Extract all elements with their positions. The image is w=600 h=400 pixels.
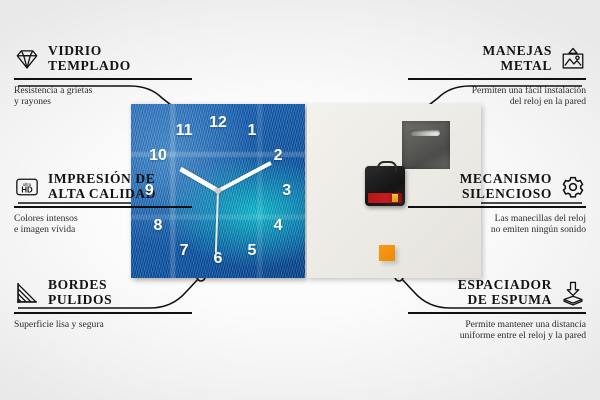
feature-high-quality-print: ultra HD IMPRESIÓN DE ALTA CALIDAD Color…: [14, 172, 192, 236]
foam-spacer: [379, 245, 395, 261]
feature-desc-line2: e imagen vívida: [14, 224, 192, 236]
feature-silent-mechanism: MECANISMO SILENCIOSO Las manecillas del …: [408, 172, 586, 236]
feature-title-line1: VIDRIO: [48, 44, 131, 59]
clock-numeral: 2: [274, 148, 283, 164]
feature-head: ultra HD IMPRESIÓN DE ALTA CALIDAD: [14, 172, 192, 201]
feature-title-line1: ESPACIADOR: [458, 278, 552, 293]
feature-head: ESPACIADOR DE ESPUMA: [408, 278, 586, 307]
clock-numeral: 8: [154, 218, 163, 234]
clock-numeral: 11: [176, 123, 193, 139]
clock-mechanism: [365, 166, 405, 206]
diamond-icon: [14, 46, 40, 72]
feature-title-line2: METAL: [483, 59, 552, 74]
feature-divider: [14, 312, 192, 314]
clock-numeral: 5: [247, 243, 256, 259]
feature-title-line1: BORDES: [48, 278, 112, 293]
feature-title-line2: PULIDOS: [48, 293, 112, 308]
clock-numeral: 7: [180, 243, 189, 259]
infographic-canvas: 12 1 2 3 4 5 6 7 8 9 10 11: [0, 0, 600, 400]
ultra-hd-large-text: HD: [21, 185, 33, 194]
gear-icon: [560, 174, 586, 200]
clock-second-hand: [215, 191, 219, 253]
feature-foam-spacer: ESPACIADOR DE ESPUMA Permite mantener un…: [408, 278, 586, 342]
feature-head: MECANISMO SILENCIOSO: [408, 172, 586, 201]
clock-numeral: 6: [214, 251, 223, 267]
feature-desc-line2: del reloj en la pared: [408, 96, 586, 108]
clock-numeral: 1: [247, 123, 256, 139]
battery-label: [368, 193, 402, 203]
clock-numeral: 4: [274, 218, 283, 234]
feature-title-line1: MECANISMO: [460, 172, 552, 187]
feature-divider: [14, 78, 192, 80]
feature-divider: [408, 206, 586, 208]
feature-head: MANEJAS METAL: [408, 44, 586, 73]
feature-title-line1: IMPRESIÓN DE: [48, 172, 156, 187]
beveled-edge-icon: [14, 280, 40, 306]
clock-numeral: 9: [145, 183, 154, 199]
mechanism-loop: [377, 161, 397, 172]
feature-desc-line1: Resistencia a grietas: [14, 85, 192, 97]
feature-desc-line1: Colores intensos: [14, 213, 192, 225]
feature-desc-line1: Superficie lisa y segura: [14, 319, 192, 331]
feature-metal-handles: MANEJAS METAL Permiten una fácil instala…: [408, 44, 586, 108]
feature-desc-line2: y rayones: [14, 96, 192, 108]
clock-numeral: 10: [149, 148, 167, 164]
clock-numeral: 12: [209, 115, 227, 131]
feature-desc-line2: uniforme entre el reloj y la pared: [408, 330, 586, 342]
feature-title-line2: DE ESPUMA: [458, 293, 552, 308]
feature-divider: [14, 206, 192, 208]
feature-desc-line2: no emiten ningún sonido: [408, 224, 586, 236]
feature-title-line2: SILENCIOSO: [460, 187, 552, 202]
feature-title-line2: ALTA CALIDAD: [48, 187, 156, 202]
feature-desc-line1: Permiten una fácil instalación: [408, 85, 586, 97]
feature-divider: [408, 312, 586, 314]
clock-minute-hand: [217, 161, 272, 193]
feature-polished-edges: BORDES PULIDOS Superficie lisa y segura: [14, 278, 192, 330]
feature-head: BORDES PULIDOS: [14, 278, 192, 307]
clock-numeral: 3: [282, 183, 291, 199]
feature-desc-line1: Las manecillas del reloj: [408, 213, 586, 225]
ultra-hd-icon: ultra HD: [14, 174, 40, 200]
feature-tempered-glass: VIDRIO TEMPLADO Resistencia a grietas y …: [14, 44, 192, 108]
feature-head: VIDRIO TEMPLADO: [14, 44, 192, 73]
feature-title-line1: MANEJAS: [483, 44, 552, 59]
foam-spacer-icon: [560, 280, 586, 306]
feature-divider: [408, 78, 586, 80]
metal-hanger: [402, 121, 450, 169]
clock-center-cap: [215, 188, 221, 194]
feature-desc-line1: Permite mantener una distancia: [408, 319, 586, 331]
feature-title-line2: TEMPLADO: [48, 59, 131, 74]
hanging-picture-icon: [560, 46, 586, 72]
hanger-slot: [410, 130, 440, 136]
